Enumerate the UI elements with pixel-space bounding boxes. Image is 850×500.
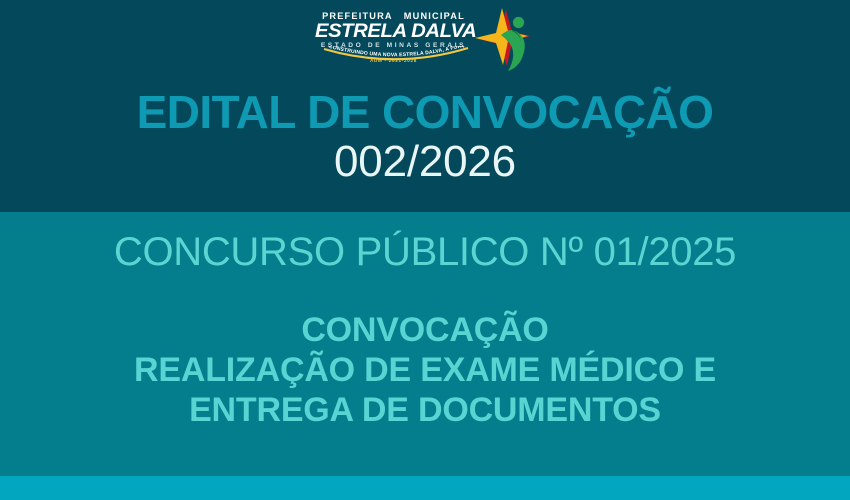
logo-textblock: PREFEITURAMUNICIPAL ESTRELA DALVA ESTADO… xyxy=(318,6,470,73)
notice-banner: PREFEITURAMUNICIPAL ESTRELA DALVA ESTADO… xyxy=(0,0,850,500)
callout-block: CONVOCAÇÃO REALIZAÇÃO DE EXAME MÉDICO E … xyxy=(0,310,850,430)
logo-term-years: ADM - 2021-2028 xyxy=(318,58,470,63)
municipal-logo: PREFEITURAMUNICIPAL ESTRELA DALVA ESTADO… xyxy=(0,4,850,74)
footer-accent-bar xyxy=(0,476,850,500)
logo-inner: PREFEITURAMUNICIPAL ESTRELA DALVA ESTADO… xyxy=(318,5,533,73)
callout-line-3: ENTREGA DE DOCUMENTOS xyxy=(0,390,850,430)
star-with-person-icon xyxy=(472,6,534,72)
svg-text:CONSTRUINDO UMA NOVA ESTRELA D: CONSTRUINDO UMA NOVA ESTRELA DALVA, A FO… xyxy=(322,46,466,58)
page-title: EDITAL DE CONVOCAÇÃO xyxy=(0,86,850,138)
contest-subtitle: CONCURSO PÚBLICO Nº 01/2025 xyxy=(0,228,850,276)
logo-slogan-ribbon: CONSTRUINDO UMA NOVA ESTRELA DALVA, A FO… xyxy=(322,46,470,68)
callout-line-1: CONVOCAÇÃO xyxy=(0,310,850,350)
logo-city-name: ESTRELA DALVA xyxy=(314,21,472,41)
callout-line-2: REALIZAÇÃO DE EXAME MÉDICO E xyxy=(0,350,850,390)
notice-number: 002/2026 xyxy=(0,136,850,188)
